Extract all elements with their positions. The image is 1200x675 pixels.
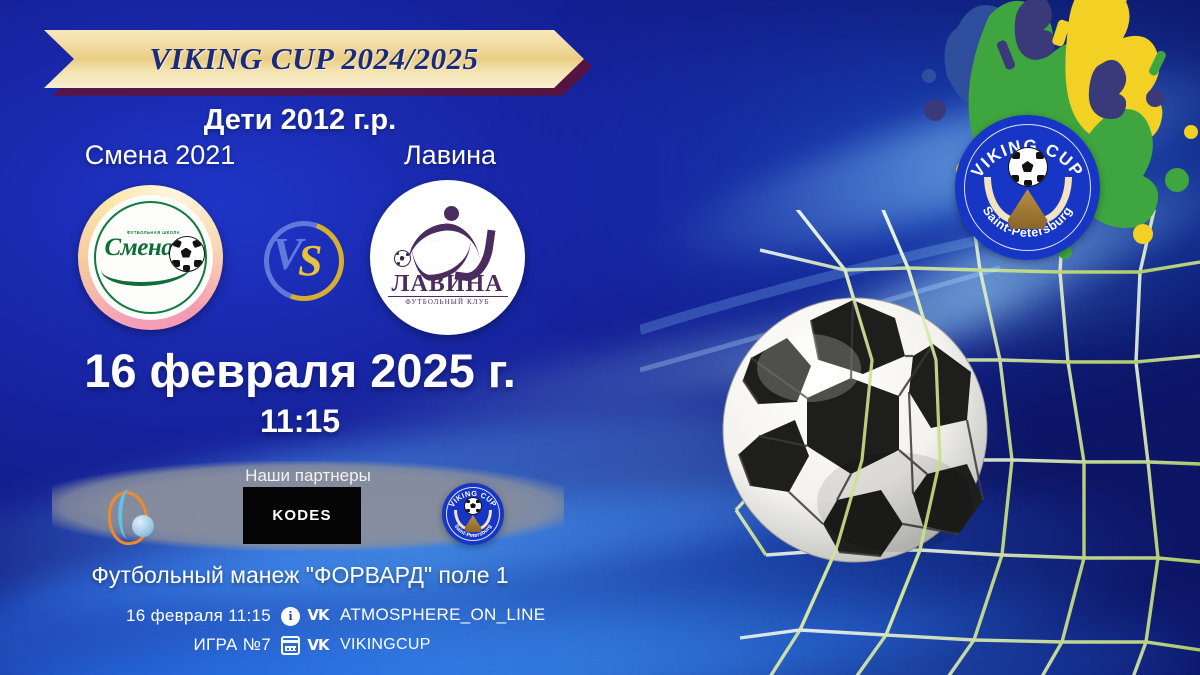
lavina-crest-art: ЛАВИНА ФУТБОЛЬНЫЙ КЛУБ bbox=[382, 202, 514, 314]
age-group-label: Дети 2012 г.р. bbox=[0, 104, 600, 137]
calendar-icon[interactable] bbox=[281, 636, 300, 655]
lavina-crest-word: ЛАВИНА bbox=[382, 272, 514, 296]
tournament-title-ribbon: VIKING CUP 2024/2025 bbox=[44, 30, 584, 92]
away-team-name: Лавина bbox=[310, 140, 590, 171]
home-team-crest: ФУТБОЛЬНАЯ ШКОЛА Смена bbox=[78, 185, 223, 330]
partner-badge-soccer-ball-icon bbox=[464, 497, 482, 515]
smena-soccer-ball-icon bbox=[169, 236, 205, 272]
smena-crest-art: ФУТБОЛЬНАЯ ШКОЛА Смена bbox=[99, 228, 203, 288]
info-icon[interactable]: i bbox=[281, 607, 300, 626]
footer-vk-vikingcup-row[interactable]: VK VIKINGCUP bbox=[305, 632, 431, 658]
lavina-soccer-ball-icon bbox=[394, 250, 411, 267]
vk-icon-2[interactable]: VK bbox=[305, 637, 331, 654]
smena-crest-word: Смена bbox=[105, 234, 174, 262]
lavina-crest-subtitle: ФУТБОЛЬНЫЙ КЛУБ bbox=[382, 298, 514, 306]
footer-game-number-text: ИГРА №7 bbox=[194, 635, 271, 655]
lavina-player-head bbox=[444, 206, 459, 221]
ribbon-body: VIKING CUP 2024/2025 bbox=[44, 30, 584, 88]
lavina-crest-rule bbox=[388, 296, 508, 297]
team-crests-row: ФУТБОЛЬНАЯ ШКОЛА Смена V S bbox=[0, 185, 600, 335]
versus-letter-s: S bbox=[298, 239, 322, 283]
footer-game-number-row: ИГРА №7 bbox=[60, 632, 300, 658]
footer-vk-atmosphere-text: ATMOSPHERE_ON_LINE bbox=[340, 605, 545, 625]
footer-datetime-text: 16 февраля 11:15 bbox=[126, 606, 271, 626]
smena-crest-disc: ФУТБОЛЬНАЯ ШКОЛА Смена bbox=[88, 195, 213, 320]
match-poster: VIKING CUP Saint-Petersburg VIKING CUP 2… bbox=[0, 0, 1200, 675]
sport-hoop-icon bbox=[96, 487, 162, 545]
footer-vk-vikingcup-text: VIKINGCUP bbox=[340, 636, 431, 654]
badge-soccer-ball-icon bbox=[1008, 147, 1048, 187]
venue-label: Футбольный манеж "ФОРВАРД" поле 1 bbox=[0, 562, 600, 589]
vk-icon[interactable]: VK bbox=[305, 607, 331, 624]
home-team-name: Смена 2021 bbox=[20, 140, 300, 171]
tournament-title: VIKING CUP 2024/2025 bbox=[149, 41, 478, 77]
partner-sport-hoop-logo[interactable] bbox=[96, 487, 162, 545]
viking-cup-badge: VIKING CUP Saint-Petersburg bbox=[955, 115, 1100, 260]
footer-vk-atmosphere-row[interactable]: VK ATMOSPHERE_ON_LINE bbox=[305, 602, 545, 628]
footer-datetime-row: 16 февраля 11:15 i bbox=[60, 603, 300, 629]
away-team-crest: ЛАВИНА ФУТБОЛЬНЫЙ КЛУБ bbox=[370, 180, 525, 335]
partner-viking-cup-logo[interactable]: VIKING CUP Saint-Petersburg bbox=[442, 483, 504, 545]
partner-kodes-logo[interactable]: KODES bbox=[243, 487, 361, 544]
soccer-ball-in-net-illustration bbox=[640, 210, 1200, 675]
versus-mark: V S bbox=[258, 215, 342, 299]
match-date: 16 февраля 2025 г. bbox=[0, 343, 600, 398]
match-time: 11:15 bbox=[0, 403, 600, 440]
kodes-wordmark: KODES bbox=[272, 507, 331, 524]
